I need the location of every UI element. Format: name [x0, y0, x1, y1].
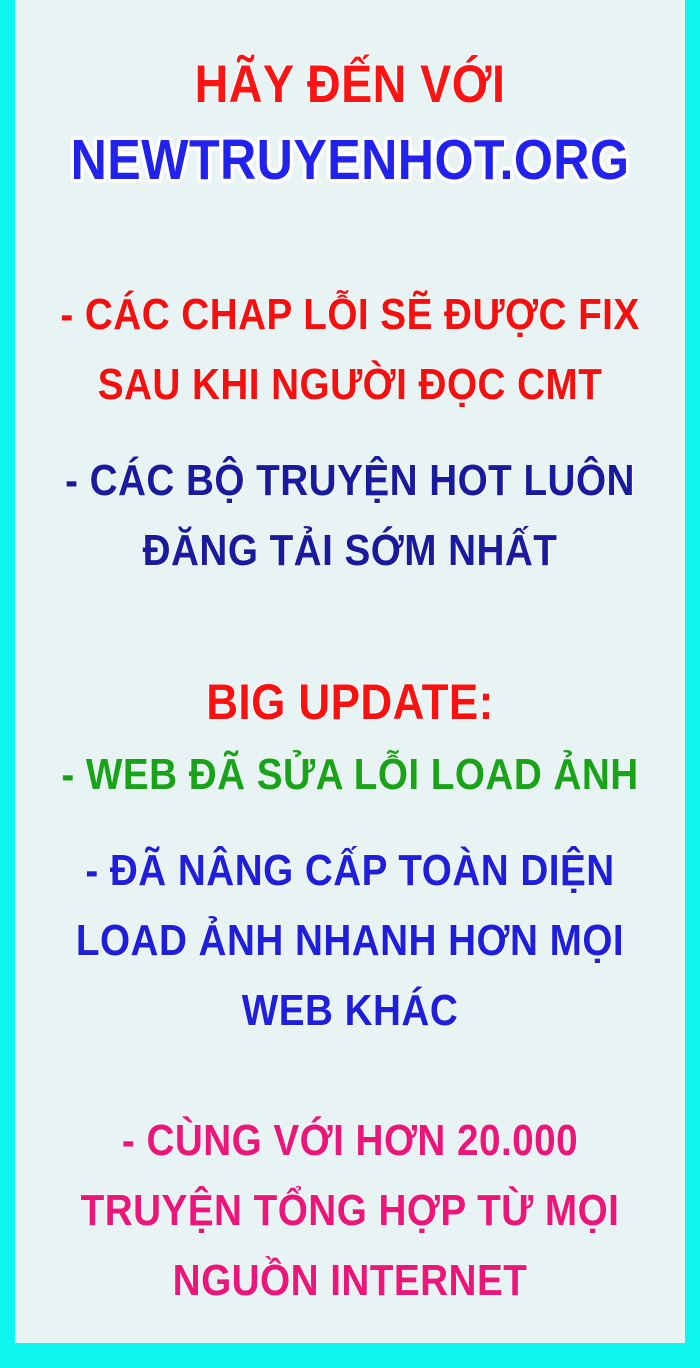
notice-hot-series: - CÁC BỘ TRUYỆN HOT LUÔN ĐĂNG TẢI SỚM NH…: [15, 459, 685, 573]
site-domain-title[interactable]: NEWTRUYENHOT.ORG: [55, 132, 645, 189]
spacer-between-notices: [15, 407, 685, 459]
update-item-full-upgrade: - ĐÃ NÂNG CẤP TOÀN DIỆN LOAD ẢNH NHANH H…: [15, 849, 685, 1033]
notice-fix-chapters: - CÁC CHAP LỖI SẼ ĐƯỢC FIX SAU KHI NGƯỜI…: [15, 293, 685, 407]
header-block: HÃY ĐẾN VỚI NEWTRUYENHOT.ORG: [15, 58, 685, 189]
notice-hot-series-line-1: - CÁC BỘ TRUYỆN HOT LUÔN: [55, 459, 645, 503]
content-panel: HÃY ĐẾN VỚI NEWTRUYENHOT.ORG - CÁC CHAP …: [15, 0, 685, 1343]
header-tagline: HÃY ĐẾN VỚI: [55, 58, 645, 111]
update-item-full-upgrade-line-3: WEB KHÁC: [55, 989, 645, 1033]
spacer-before-update: [15, 573, 685, 677]
spacer-after-header: [15, 189, 685, 293]
update-item-fixed-image-load: - WEB ĐÃ SỬA LỖI LOAD ẢNH: [15, 753, 685, 797]
spacer: [15, 1033, 685, 1119]
update-item-full-upgrade-line-2: LOAD ẢNH NHANH HƠN MỌI: [55, 919, 645, 963]
spacer: [15, 797, 685, 849]
notice-fix-chapters-line-2: SAU KHI NGƯỜI ĐỌC CMT: [55, 363, 645, 407]
update-item-fixed-image-load-line-1: - WEB ĐÃ SỬA LỖI LOAD ẢNH: [55, 753, 645, 797]
update-item-story-count-line-1: - CÙNG VỚI HƠN 20.000: [55, 1119, 645, 1163]
notice-hot-series-line-2: ĐĂNG TẢI SỚM NHẤT: [55, 529, 645, 573]
update-item-story-count-line-3: NGUỒN INTERNET: [55, 1259, 645, 1303]
update-item-full-upgrade-line-1: - ĐÃ NÂNG CẤP TOÀN DIỆN: [55, 849, 645, 893]
update-item-story-count: - CÙNG VỚI HƠN 20.000 TRUYỆN TỔNG HỢP TỪ…: [15, 1119, 685, 1303]
update-item-story-count-line-2: TRUYỆN TỔNG HỢP TỪ MỌI: [55, 1189, 645, 1233]
notice-fix-chapters-line-1: - CÁC CHAP LỖI SẼ ĐƯỢC FIX: [55, 293, 645, 337]
big-update-heading: BIG UPDATE:: [55, 677, 645, 727]
bottom-cyan-band: [0, 1343, 700, 1368]
announcement-banner: HÃY ĐẾN VỚI NEWTRUYENHOT.ORG - CÁC CHAP …: [0, 0, 700, 1368]
